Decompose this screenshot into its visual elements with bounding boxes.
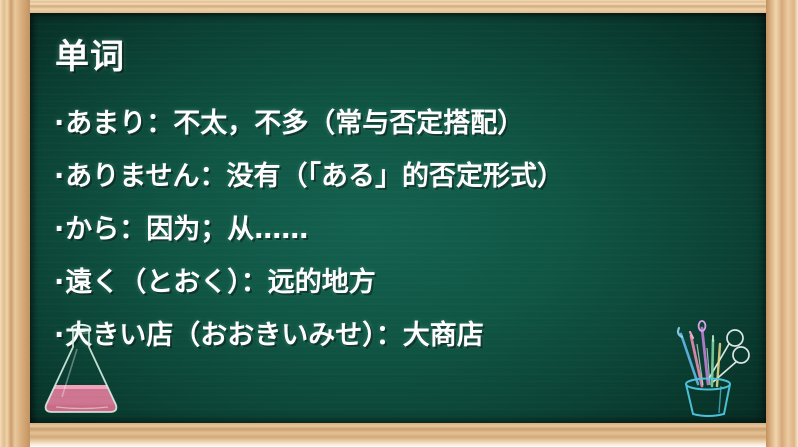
page-title: 单词 xyxy=(55,29,125,78)
list-item-text: から：因为；从…… xyxy=(65,207,308,246)
frame-top-edge xyxy=(0,0,798,13)
bullet-marker-icon: · xyxy=(54,322,64,349)
list-item-text: あまり：不太，不多（常与否定搭配） xyxy=(65,101,524,140)
bullet-marker-icon: · xyxy=(54,269,64,296)
list-item: · あまり：不太，不多（常与否定搭配） xyxy=(54,101,756,154)
bullet-marker-icon: · xyxy=(54,110,64,137)
list-item: · 遠く（とおく）：远的地方 xyxy=(54,260,756,313)
chalkboard-surface: 单词 · あまり：不太，不多（常与否定搭配） · ありません：没有（「ある」的否… xyxy=(30,13,766,423)
list-item: · 大きい店（おおきいみせ）：大商店 xyxy=(54,313,756,366)
vocabulary-list: · あまり：不太，不多（常与否定搭配） · ありません：没有（「ある」的否定形式… xyxy=(54,101,756,366)
slide-root: 单词 · あまり：不太，不多（常与否定搭配） · ありません：没有（「ある」的否… xyxy=(0,0,798,447)
frame-left-edge xyxy=(0,0,30,447)
list-item-text: ありません：没有（「ある」的否定形式） xyxy=(65,154,564,193)
frame-bottom-edge xyxy=(0,423,798,447)
frame-right-edge xyxy=(766,0,798,447)
list-item: · から：因为；从…… xyxy=(54,207,756,260)
bullet-marker-icon: · xyxy=(54,163,64,190)
bullet-marker-icon: · xyxy=(54,216,64,243)
list-item-text: 大きい店（おおきいみせ）：大商店 xyxy=(65,313,484,352)
list-item: · ありません：没有（「ある」的否定形式） xyxy=(54,154,756,207)
list-item-text: 遠く（とおく）：远的地方 xyxy=(65,260,376,299)
